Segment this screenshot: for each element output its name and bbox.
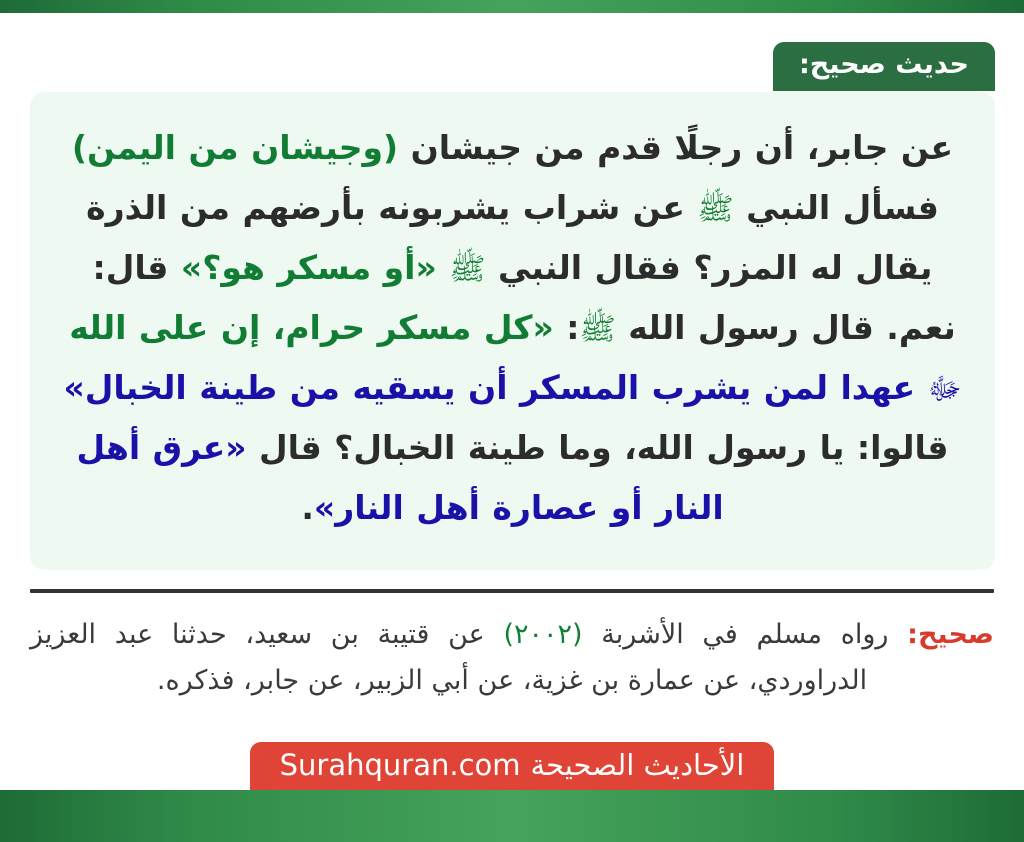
top-accent-bar bbox=[0, 0, 1024, 13]
hadith-segment-2: فسأل النبي bbox=[734, 188, 939, 227]
footer-collection-label: الأحاديث الصحيحة bbox=[531, 747, 745, 785]
attribution-text: صحيح: رواه مسلم في الأشربة (٢٠٠٢) عن قتي… bbox=[30, 612, 994, 705]
section-separator bbox=[30, 589, 994, 593]
hadith-panel: عن جابر، أن رجلًا قدم من جيشان (وجيشان م… bbox=[30, 92, 995, 570]
hadith-segment-7: «أو مسكر هو؟» bbox=[181, 248, 437, 287]
hadith-segment-1: (وجيشان من اليمن) bbox=[72, 128, 398, 167]
hadith-body-text: عن جابر، أن رجلًا قدم من جيشان (وجيشان م… bbox=[60, 118, 965, 538]
sallallahu-alayhi-wasallam-icon: ﷺ bbox=[580, 312, 616, 347]
hadith-segment-10: : bbox=[554, 308, 580, 347]
footer-site-label: Surahquran.com bbox=[280, 747, 521, 785]
bottom-accent-bar bbox=[0, 790, 1024, 842]
attribution-reference-number: (٢٠٠٢) bbox=[503, 619, 582, 650]
hadith-segment-14: قالوا: يا رسول الله، وما طينة الخبال؟ قا… bbox=[247, 428, 949, 467]
attribution-grade-word: صحيح: bbox=[907, 619, 994, 650]
hadith-segment-16: . bbox=[301, 488, 314, 527]
hadith-segment-11: «كل مسكر حرام، إن على الله bbox=[69, 308, 554, 347]
hadith-segment-13: عهدا لمن يشرب المسكر أن يسقيه من طينة ال… bbox=[63, 368, 927, 407]
site-footer-banner[interactable]: الأحاديث الصحيحة Surahquran.com bbox=[250, 742, 775, 793]
hadith-segment-6 bbox=[437, 248, 450, 287]
sallallahu-alayhi-wasallam-icon: ﷺ bbox=[697, 192, 733, 227]
sallallahu-alayhi-wasallam-icon: ﷺ bbox=[449, 252, 485, 287]
azza-wajal-honorific-icon: ﷻ bbox=[928, 372, 962, 407]
badge-row: حديث صحيح: bbox=[30, 42, 995, 91]
hadith-segment-0: عن جابر، أن رجلًا قدم من جيشان bbox=[398, 128, 953, 167]
attribution-part-one: رواه مسلم في الأشربة bbox=[583, 619, 908, 650]
hadith-grade-badge: حديث صحيح: bbox=[773, 42, 995, 91]
footer-wrap: الأحاديث الصحيحة Surahquran.com bbox=[0, 742, 1024, 790]
